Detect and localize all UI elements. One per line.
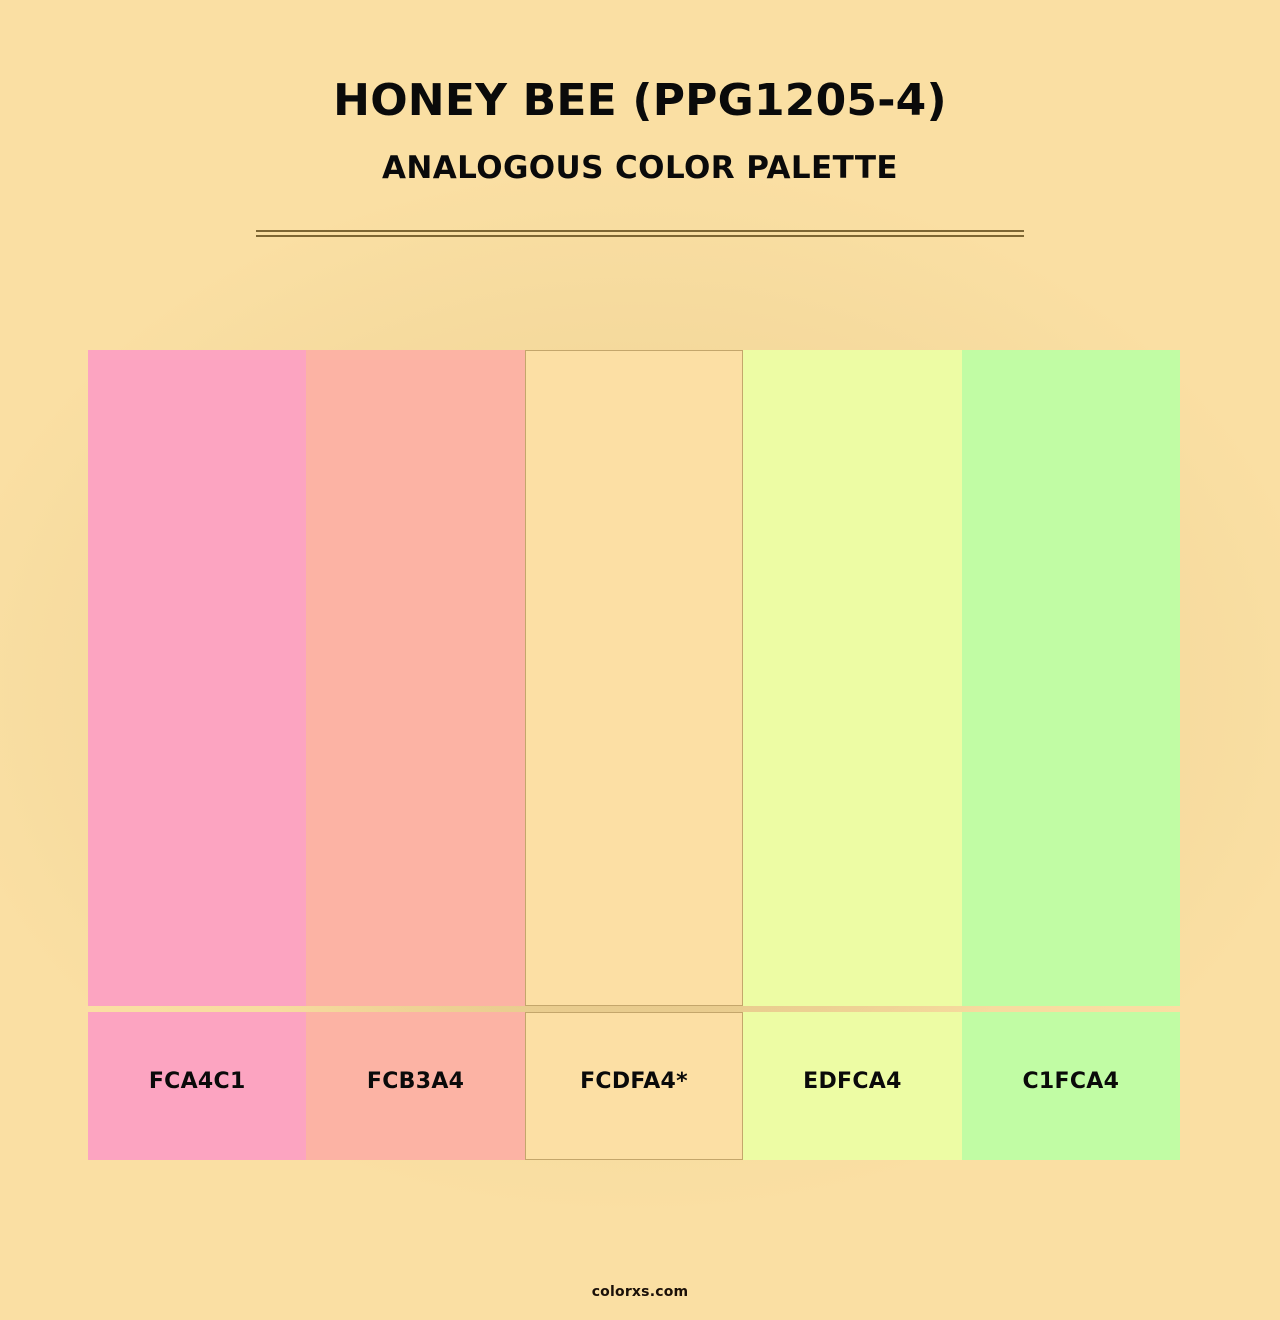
color-label-cell[interactable]: EDFCA4: [743, 1012, 961, 1160]
color-swatch[interactable]: [306, 350, 524, 1006]
page-title: HONEY BEE (PPG1205-4): [0, 0, 1280, 128]
footer-site-name: colorxs.com: [0, 1283, 1280, 1301]
color-hex-label: C1FCA4: [962, 1069, 1180, 1095]
color-hex-label: EDFCA4: [743, 1069, 961, 1095]
page-background: HONEY BEE (PPG1205-4) ANALOGOUS COLOR PA…: [0, 0, 1280, 1320]
page-subtitle: ANALOGOUS COLOR PALETTE: [0, 128, 1280, 187]
color-hex-label: FCA4C1: [88, 1069, 306, 1095]
divider-line-bottom: [256, 235, 1024, 237]
color-label-cell[interactable]: C1FCA4: [962, 1012, 1180, 1160]
color-swatch[interactable]: [743, 350, 961, 1006]
header: HONEY BEE (PPG1205-4) ANALOGOUS COLOR PA…: [0, 0, 1280, 187]
color-label-cell[interactable]: FCB3A4: [306, 1012, 524, 1160]
color-hex-label: FCDFA4*: [525, 1069, 743, 1095]
color-label-cell[interactable]: FCDFA4*: [525, 1012, 743, 1160]
color-palette: FCA4C1FCB3A4FCDFA4*EDFCA4C1FCA4: [88, 350, 1180, 1160]
color-swatch[interactable]: [88, 350, 306, 1006]
color-label-cell[interactable]: FCA4C1: [88, 1012, 306, 1160]
color-hex-label: FCB3A4: [306, 1069, 524, 1095]
color-swatch[interactable]: [525, 350, 743, 1006]
header-divider: [256, 230, 1024, 237]
swatch-row: [88, 350, 1180, 1006]
color-swatch[interactable]: [962, 350, 1180, 1006]
swatch-label-row: FCA4C1FCB3A4FCDFA4*EDFCA4C1FCA4: [88, 1012, 1180, 1160]
